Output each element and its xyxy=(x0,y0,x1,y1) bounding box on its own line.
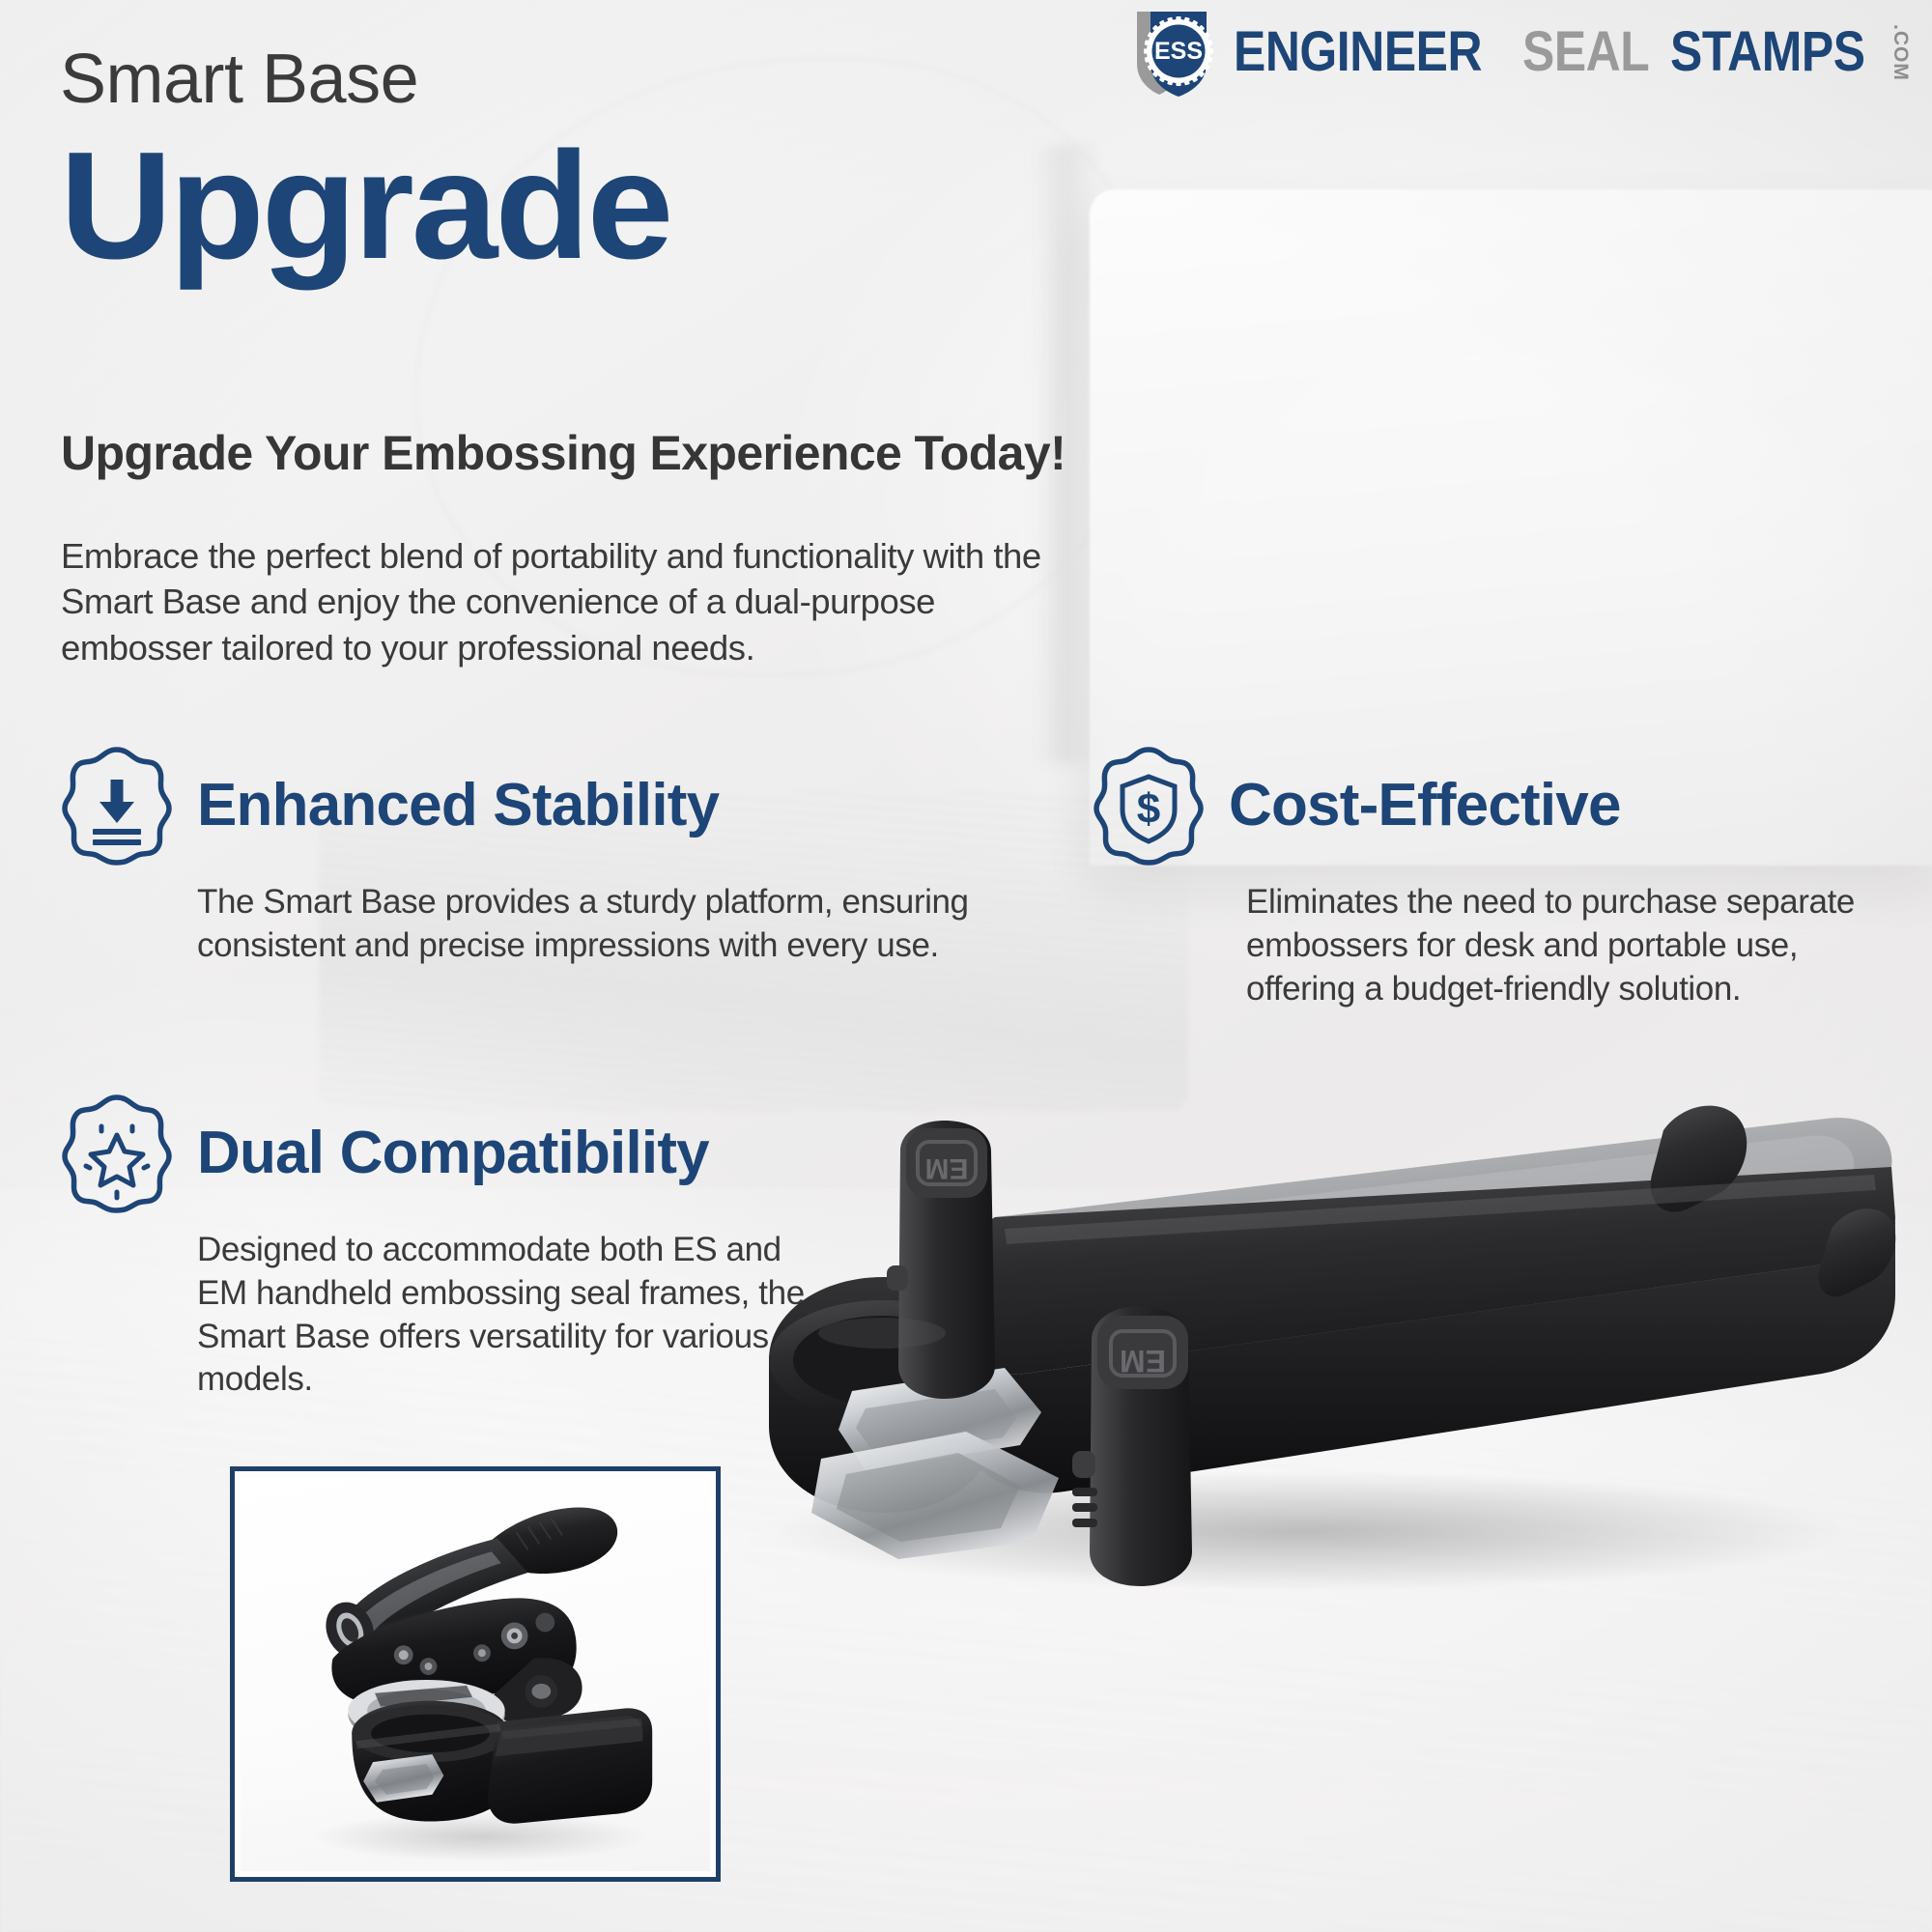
smart-base-product-photo: EM EM xyxy=(676,976,1932,1594)
headline-eyebrow: Smart Base xyxy=(60,44,659,114)
feature-header: Enhanced Stability xyxy=(60,744,1036,867)
subheading: Upgrade Your Embossing Experience Today! xyxy=(61,425,1065,481)
handheld-embosser-illustration xyxy=(241,1477,710,1871)
download-to-platform-badge-icon xyxy=(60,744,174,867)
feature-title: Cost-Effective xyxy=(1229,776,1621,836)
handheld-embosser-photo-frame xyxy=(230,1466,721,1882)
logo-word-stamps: STAMPS xyxy=(1670,24,1865,80)
feature-cost-effective: $ Cost-Effective Eliminates the need to … xyxy=(1092,744,1893,1010)
brand-logo[interactable]: ESS ENGINEER SEAL STAMPS .COM xyxy=(1131,8,1911,97)
post-label-right: EM xyxy=(1120,1344,1166,1378)
feature-title: Dual Compatibility xyxy=(197,1123,709,1183)
headline-block: Smart Base Upgrade xyxy=(60,44,659,282)
smart-base-illustration: EM EM xyxy=(676,976,1932,1594)
handheld-embosser-on-smart-base-photo xyxy=(241,1477,710,1871)
logo-monogram-text: ESS xyxy=(1154,38,1203,65)
page-title: Upgrade xyxy=(60,129,670,282)
shield-dollar-badge-icon: $ xyxy=(1092,744,1206,867)
intro-paragraph: Embrace the perfect blend of portability… xyxy=(61,533,1085,670)
post-left: EM xyxy=(887,1121,995,1399)
logo-wordmark: ENGINEER SEAL STAMPS xyxy=(1234,24,1896,80)
dollar-glyph: $ xyxy=(1137,785,1160,833)
logo-word-seal: SEAL xyxy=(1522,24,1649,80)
post-label-left: EM xyxy=(925,1152,969,1184)
feature-title: Enhanced Stability xyxy=(197,776,719,836)
feature-enhanced-stability: Enhanced Stability The Smart Base provid… xyxy=(60,744,1036,968)
logo-word-engineer: ENGINEER xyxy=(1234,24,1482,80)
feature-body: The Smart Base provides a sturdy platfor… xyxy=(197,881,1028,968)
ess-shield-gear-icon: ESS xyxy=(1131,8,1224,97)
star-sparkle-badge-icon xyxy=(60,1092,174,1215)
feature-header: $ Cost-Effective xyxy=(1092,744,1893,867)
logo-tld-text: .COM xyxy=(1890,24,1911,81)
